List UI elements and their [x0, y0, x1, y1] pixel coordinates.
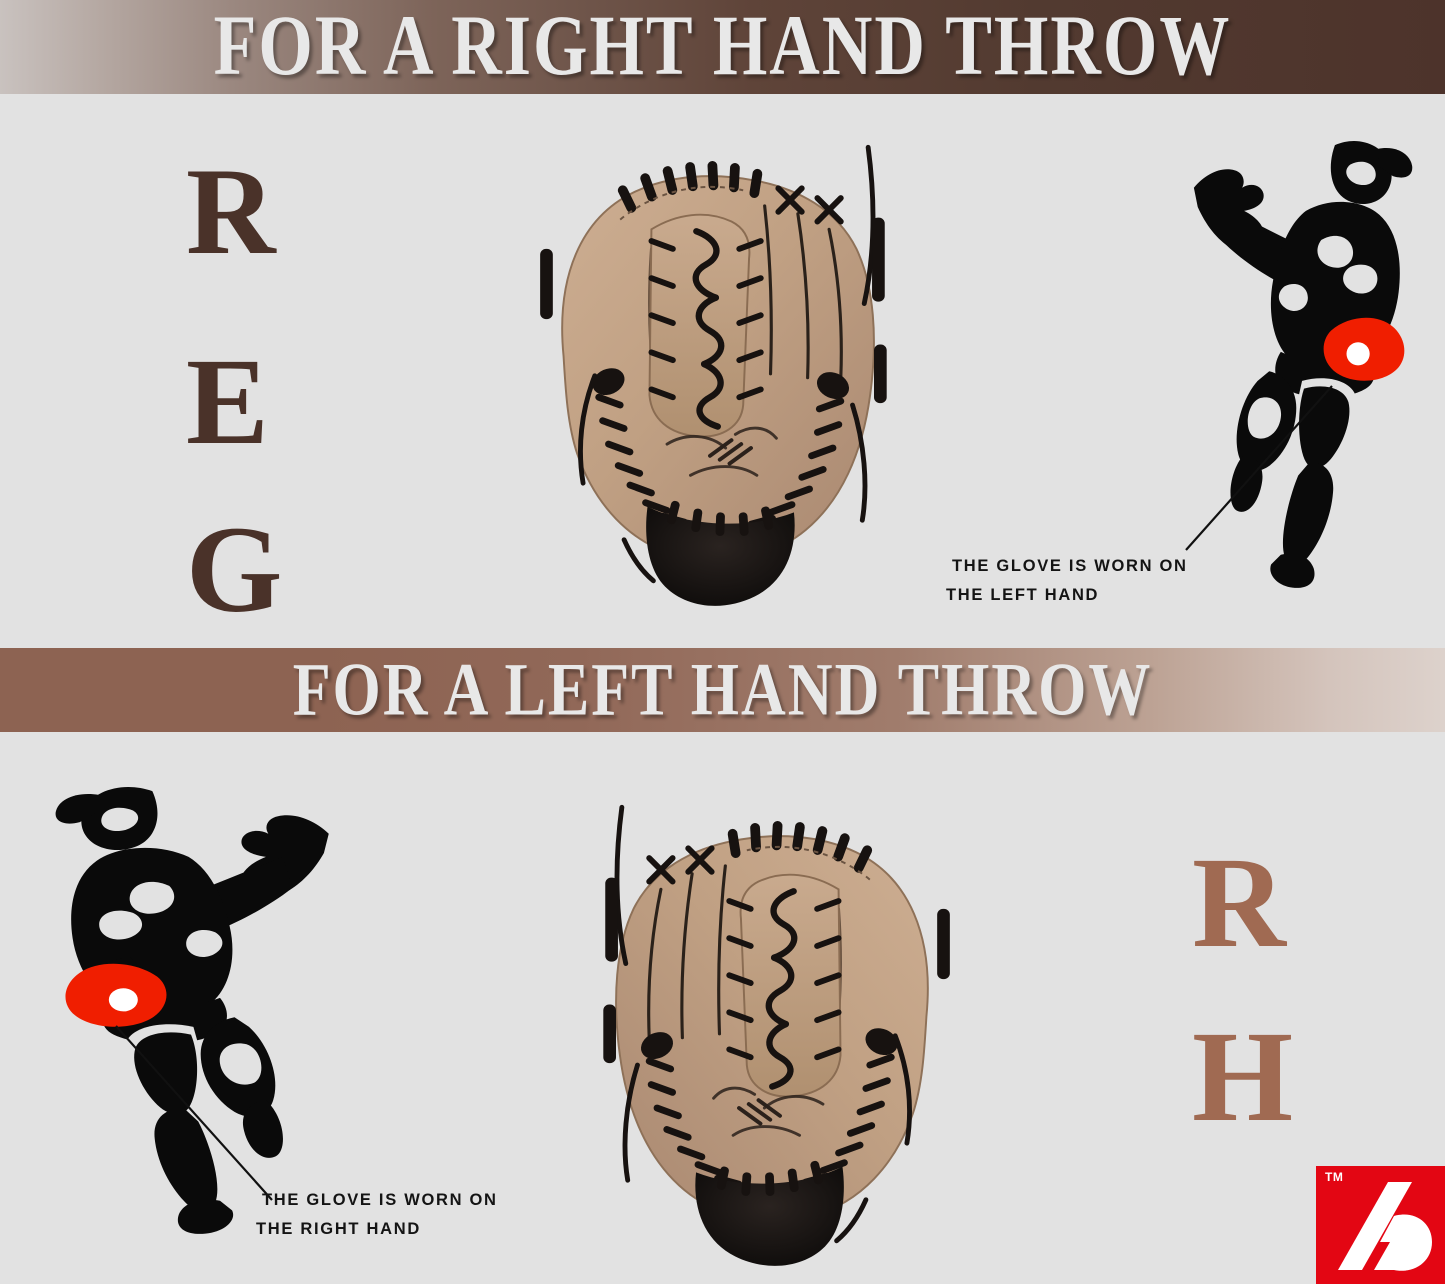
caption-right-hand: THE GLOVE IS WORN ON THE RIGHT HAND — [262, 1186, 498, 1244]
leader-line-top — [1180, 380, 1340, 560]
caption-left-hand-line1: THE GLOVE IS WORN ON — [952, 557, 1188, 575]
glove-right-hand-throw — [505, 112, 915, 620]
caption-left-hand-line2: THE LEFT HAND — [952, 581, 1188, 610]
caption-right-hand-line1: THE GLOVE IS WORN ON — [262, 1191, 498, 1209]
letter-h-bottom: H — [1192, 1012, 1293, 1142]
letter-e-top: E — [186, 340, 269, 464]
barnett-logo-mark — [1316, 1166, 1445, 1284]
letter-g-top: G — [186, 508, 282, 632]
leader-line-bottom — [110, 1020, 280, 1210]
banner-left-hand-throw: FOR A LEFT HAND THROW — [0, 648, 1445, 732]
barnett-logo: TM — [1316, 1166, 1445, 1284]
letter-r-top: R — [186, 150, 276, 274]
banner-left-hand-throw-label: FOR A LEFT HAND THROW — [293, 648, 1153, 732]
banner-right-hand-throw-label: FOR A RIGHT HAND THROW — [214, 0, 1232, 94]
glove-left-hand-throw — [575, 772, 985, 1280]
infographic-poster: FOR A RIGHT HAND THROW R E G THE GLOVE I… — [0, 0, 1445, 1284]
banner-right-hand-throw: FOR A RIGHT HAND THROW — [0, 0, 1445, 94]
caption-left-hand: THE GLOVE IS WORN ON THE LEFT HAND — [952, 552, 1188, 610]
letter-r-bottom: R — [1192, 838, 1286, 968]
caption-right-hand-line2: THE RIGHT HAND — [262, 1215, 498, 1244]
